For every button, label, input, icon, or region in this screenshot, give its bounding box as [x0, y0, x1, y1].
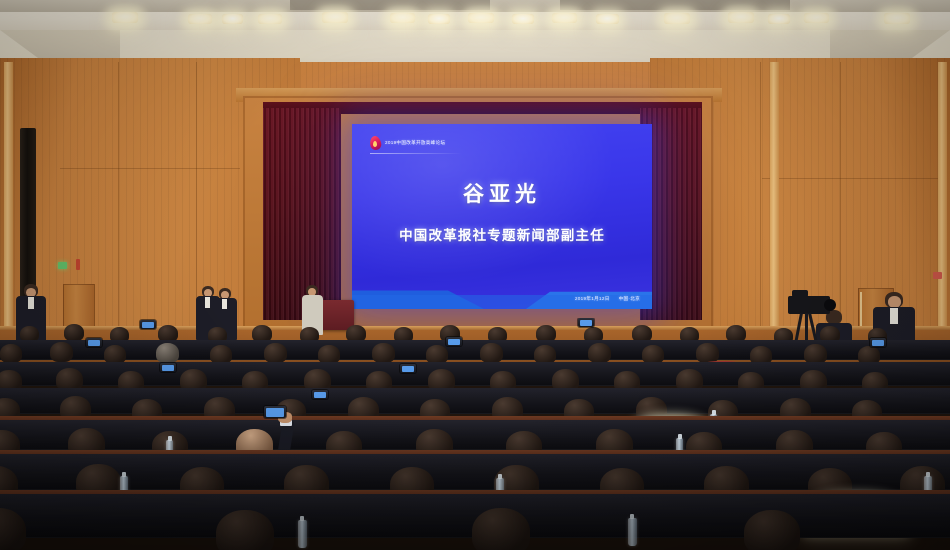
exit-sign-icon: [58, 262, 67, 269]
attendee-head: [480, 343, 503, 363]
attendee-head: [588, 343, 611, 363]
camera-lens-icon: [824, 299, 836, 311]
attendee-head: [696, 343, 719, 363]
person-shirt: [205, 297, 210, 308]
attendee-phone: [446, 337, 462, 346]
ceiling-light: [512, 14, 534, 24]
attendee-head: [156, 343, 179, 363]
slide-footer: 2019年1月12日 中国·北京: [575, 296, 640, 302]
attendee-head: [216, 510, 274, 550]
slide-footer-date: 2019年1月12日: [575, 296, 610, 302]
ceiling-light: [552, 13, 577, 23]
attendee-head: [264, 343, 287, 363]
ceiling-light: [664, 13, 690, 24]
ceiling-slot-2: [560, 0, 790, 10]
ceiling-light: [728, 12, 754, 23]
slide-logo-rule: [370, 153, 462, 154]
projection-screen: 2019中国改革开放高峰论坛 谷亚光 中国改革报社专题新闻部副主任 2019年1…: [352, 124, 652, 309]
slide-speaker-title: 中国改革报社专题新闻部副主任: [352, 224, 652, 244]
wall-seam: [762, 178, 942, 179]
ceiling-light: [390, 13, 415, 23]
ceiling-light: [258, 14, 282, 24]
auditorium-photo: 2019中国改革开放高峰论坛 谷亚光 中国改革报社专题新闻部副主任 2019年1…: [0, 0, 950, 550]
slide-logo-text: 2019中国改革开放高峰论坛: [385, 140, 445, 146]
ceiling-light: [112, 12, 138, 23]
wall-pilaster-left: [4, 62, 13, 362]
fire-alarm-icon: [76, 259, 80, 270]
attendee-phone: [264, 406, 286, 418]
camera-hood: [792, 290, 808, 297]
water-bottle: [298, 520, 307, 548]
wall-seam: [760, 62, 761, 362]
attendee-head: [804, 344, 827, 364]
wall-seam: [60, 168, 240, 169]
wall-pilaster-far-right: [938, 62, 947, 362]
attendee-phone: [870, 338, 886, 347]
exit-sign-icon: [933, 272, 942, 279]
attendee-head: [0, 344, 22, 363]
screen-sheen: [352, 124, 652, 309]
attendee-phone: [160, 363, 176, 372]
flame-logo-icon: [370, 136, 381, 150]
ceiling-light: [884, 13, 910, 24]
slide-footer-place: 中国·北京: [619, 296, 640, 302]
ceiling-slot-1: [290, 0, 490, 10]
ceiling-light: [322, 12, 348, 23]
attendee-head: [372, 343, 395, 363]
person-shirt: [222, 299, 227, 309]
ceiling-light: [768, 14, 790, 24]
attendee-head: [744, 510, 800, 550]
wall-pilaster-right: [770, 62, 779, 362]
wall-seam: [118, 62, 119, 362]
attendee-phone: [312, 390, 328, 399]
slide-speaker-name: 谷亚光: [352, 178, 652, 208]
attendee-head: [64, 324, 84, 341]
ceiling-light: [428, 14, 450, 24]
attendee-phone: [86, 338, 102, 347]
attendee-phone: [578, 318, 594, 327]
ceiling-light: [596, 14, 619, 24]
attendee-phone: [140, 320, 156, 329]
ceiling-light: [222, 14, 243, 24]
audience: [0, 318, 950, 550]
person-shirt: [28, 297, 34, 309]
attendee-head: [50, 342, 73, 362]
ceiling-light: [188, 14, 212, 24]
slide-logo: 2019中国改革开放高峰论坛: [370, 136, 445, 150]
ceiling-light: [804, 13, 829, 23]
attendee-phone: [400, 364, 416, 373]
water-bottle: [628, 518, 637, 546]
ceiling-light: [468, 13, 494, 23]
attendee-head: [472, 508, 530, 550]
